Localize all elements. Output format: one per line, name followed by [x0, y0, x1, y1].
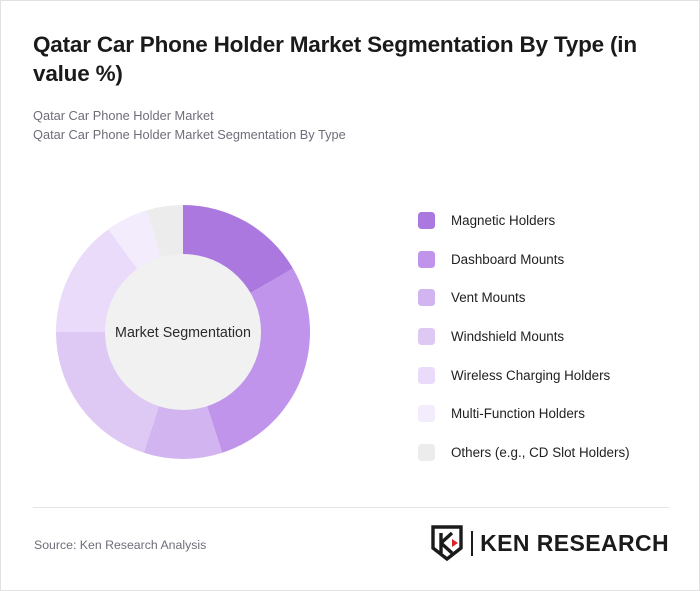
ken-research-shield-icon [430, 525, 464, 561]
legend-label: Magnetic Holders [451, 213, 555, 228]
donut-chart: Market Segmentation [31, 169, 336, 479]
donut-svg: Market Segmentation [31, 169, 336, 479]
legend-swatch-icon [418, 444, 435, 461]
legend-swatch-icon [418, 251, 435, 268]
legend-label: Dashboard Mounts [451, 252, 564, 267]
legend-item[interactable]: Multi-Function Holders [418, 394, 688, 433]
chart-page: Qatar Car Phone Holder Market Segmentati… [0, 0, 700, 591]
legend-swatch-icon [418, 405, 435, 422]
legend-item[interactable]: Magnetic Holders [418, 201, 688, 240]
legend-item[interactable]: Others (e.g., CD Slot Holders) [418, 433, 688, 472]
legend-label: Multi-Function Holders [451, 406, 585, 421]
chart-area: Market Segmentation Magnetic HoldersDash… [1, 169, 700, 499]
brand-divider [471, 531, 473, 556]
legend-item[interactable]: Wireless Charging Holders [418, 356, 688, 395]
legend-item[interactable]: Vent Mounts [418, 278, 688, 317]
legend-swatch-icon [418, 212, 435, 229]
legend-item[interactable]: Windshield Mounts [418, 317, 688, 356]
footer-divider [33, 507, 669, 508]
chart-legend: Magnetic HoldersDashboard MountsVent Mou… [418, 201, 688, 472]
legend-swatch-icon [418, 367, 435, 384]
legend-label: Others (e.g., CD Slot Holders) [451, 445, 630, 460]
legend-label: Wireless Charging Holders [451, 368, 610, 383]
legend-label: Vent Mounts [451, 290, 525, 305]
subtitle-segmentation: Qatar Car Phone Holder Market Segmentati… [33, 125, 653, 145]
source-note: Source: Ken Research Analysis [34, 538, 206, 552]
page-title: Qatar Car Phone Holder Market Segmentati… [33, 31, 653, 89]
brand-name: KEN RESEARCH [480, 530, 669, 557]
chart-header: Qatar Car Phone Holder Market Segmentati… [33, 31, 653, 145]
subtitle-group: Qatar Car Phone Holder Market Qatar Car … [33, 106, 653, 146]
legend-swatch-icon [418, 289, 435, 306]
subtitle-market: Qatar Car Phone Holder Market [33, 106, 653, 126]
legend-item[interactable]: Dashboard Mounts [418, 240, 688, 279]
donut-center-label: Market Segmentation [115, 325, 251, 341]
legend-swatch-icon [418, 328, 435, 345]
legend-label: Windshield Mounts [451, 329, 564, 344]
brand-logo: KEN RESEARCH [430, 525, 669, 561]
